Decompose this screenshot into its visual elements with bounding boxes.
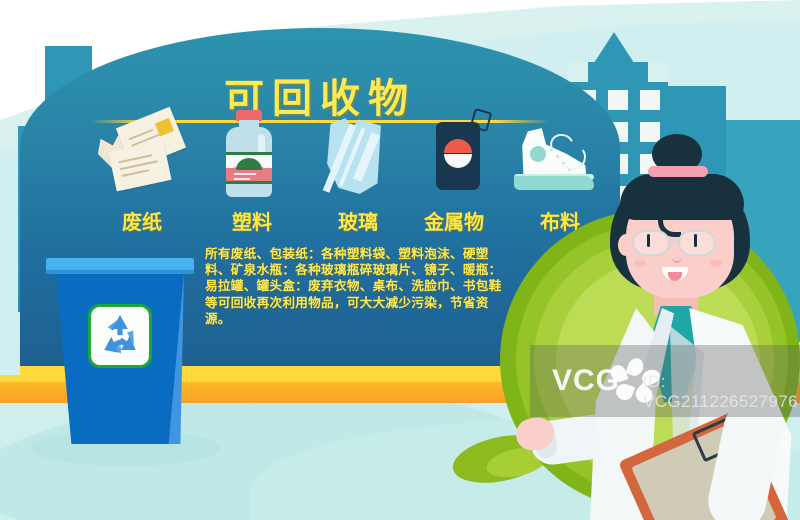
- recycle-symbol-icon: [88, 304, 152, 368]
- glass-shard-icon: [312, 108, 404, 200]
- hair-fringe: [620, 174, 744, 220]
- window: [640, 90, 660, 110]
- poster-canvas: 可回收物: [0, 0, 800, 520]
- plastic-bottle-icon: [206, 108, 298, 200]
- category-label-plastic: 塑料: [200, 206, 304, 235]
- eye-left: [647, 234, 650, 247]
- female-doctor-illustration: [520, 130, 800, 520]
- eyeglass-left-lens: [632, 230, 670, 256]
- building-right-roof: [592, 32, 636, 66]
- watermark-logo: VCG: [552, 364, 620, 398]
- watermark-id: ID: VCG211226527976: [643, 372, 800, 412]
- cheek-left: [634, 260, 646, 267]
- eyeglass-bridge: [670, 241, 678, 243]
- waste-paper-icon: [96, 108, 188, 200]
- eye-right: [694, 234, 697, 247]
- category-label-glass: 玻璃: [306, 206, 410, 235]
- description-text: 所有废纸、包装纸：各种塑料袋、塑料泡沫、硬塑料、矿泉水瓶：各种玻璃瓶碎玻璃片、镜…: [205, 246, 505, 327]
- hair-tie: [648, 166, 708, 177]
- building-right-notch-right: [648, 62, 668, 82]
- category-label-paper: 废纸: [90, 206, 194, 235]
- eyeglass-right-lens: [678, 230, 716, 256]
- cheek-right: [710, 260, 722, 267]
- metal-can-icon: [412, 108, 504, 200]
